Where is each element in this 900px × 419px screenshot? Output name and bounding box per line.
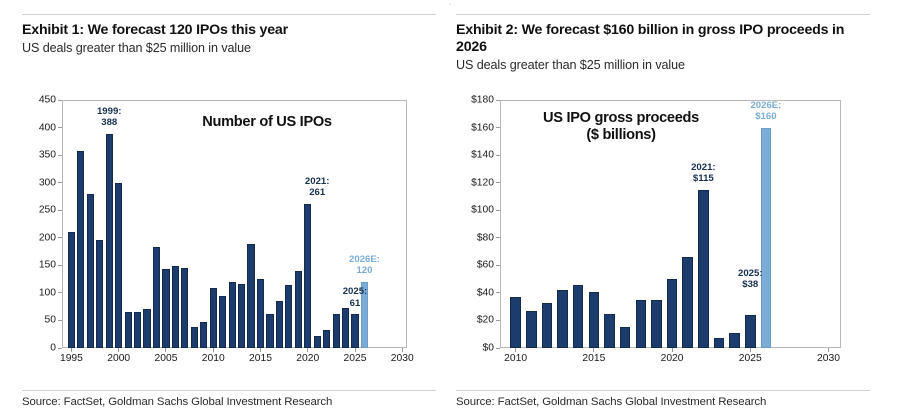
bar: [285, 285, 292, 348]
bar: [295, 271, 302, 348]
annot-2026E: 2026E:120: [341, 254, 387, 276]
x-axis-tick-label: 2000: [107, 353, 130, 364]
y-axis-tick-label: $120: [456, 177, 494, 188]
bar: [96, 240, 103, 348]
x-axis-tick-label: 2025: [739, 353, 762, 364]
y-axis-tick-label: $40: [456, 287, 494, 298]
bar: [276, 301, 283, 348]
y-axis-tick-mark: [58, 155, 62, 156]
exhibit-1-panel: Exhibit 1: We forecast 120 IPOs this yea…: [22, 0, 452, 419]
y-axis-tick-mark: [496, 348, 500, 349]
x-axis-tick-mark: [260, 348, 261, 352]
y-axis-tick-label: $140: [456, 150, 494, 161]
y-axis-tick-mark: [58, 265, 62, 266]
exhibit-2-source: Source: FactSet, Goldman Sachs Global In…: [456, 396, 870, 408]
x-axis-tick-mark: [118, 348, 119, 352]
bar: [266, 314, 273, 348]
bar: [714, 338, 725, 348]
x-axis-tick-label: 2030: [391, 353, 414, 364]
y-axis-tick-mark: [58, 100, 62, 101]
bar: [247, 244, 254, 348]
bar: [68, 232, 75, 348]
bar: [257, 279, 264, 348]
bar: [115, 183, 122, 348]
bar: [542, 303, 553, 348]
y-axis-tick-label: $100: [456, 205, 494, 216]
annot-2025-line-1: 2025:: [332, 286, 378, 297]
bar: [77, 151, 84, 348]
x-axis-tick-label: 2010: [202, 353, 225, 364]
annot-1999-line-1: 1999:: [86, 106, 132, 117]
top-divider: [456, 14, 870, 15]
bar: [106, 134, 113, 348]
bar: [153, 247, 160, 348]
annot-2021-line-2: 261: [294, 187, 340, 198]
chart-us-ipo-gross-proceeds: $0$20$40$60$80$100$120$140$160$180201020…: [456, 78, 876, 368]
bar: [229, 282, 236, 348]
y-axis-tick-mark: [58, 182, 62, 183]
y-axis-tick-label: 350: [22, 150, 56, 161]
x-axis-tick-label: 2015: [249, 353, 272, 364]
bar: [682, 257, 693, 348]
y-axis-tick-label: $20: [456, 315, 494, 326]
bottom-divider: [456, 390, 870, 391]
annot-2025-line-1: 2025:: [727, 268, 773, 279]
bar: [181, 268, 188, 348]
bar: [314, 336, 321, 348]
x-axis-tick-mark: [355, 348, 356, 352]
annot-2026E-line-2: $160: [743, 111, 789, 122]
bar: [557, 290, 568, 348]
annot-2021-line-1: 2021:: [294, 176, 340, 187]
y-axis-tick-mark: [496, 155, 500, 156]
y-axis-tick-label: 50: [22, 315, 56, 326]
y-axis-tick-label: 200: [22, 232, 56, 243]
bar: [510, 297, 521, 348]
y-axis-tick-mark: [496, 100, 500, 101]
exhibit-1-source: Source: FactSet, Goldman Sachs Global In…: [22, 396, 436, 408]
x-axis-tick-mark: [71, 348, 72, 352]
annot-2025-line-2: 61: [332, 298, 378, 309]
x-axis-tick-label: 2020: [296, 353, 319, 364]
x-axis-tick-mark: [672, 348, 673, 352]
bar: [745, 315, 756, 348]
x-axis-tick-mark: [593, 348, 594, 352]
bar: [636, 300, 647, 348]
bar: [87, 194, 94, 348]
y-axis-tick-mark: [496, 210, 500, 211]
top-divider: [22, 14, 436, 15]
bar: [342, 308, 349, 348]
x-axis-tick-mark: [402, 348, 403, 352]
bar: [219, 296, 226, 348]
bar: [143, 309, 150, 348]
bar: [667, 279, 678, 348]
bar: [172, 266, 179, 348]
bar: [210, 288, 217, 348]
exhibit-2-panel: Exhibit 2: We forecast $160 billion in g…: [456, 0, 886, 419]
y-axis-tick-label: 150: [22, 260, 56, 271]
annot-2025-line-2: $38: [727, 279, 773, 290]
y-axis-tick-mark: [58, 320, 62, 321]
y-axis-tick-mark: [496, 265, 500, 266]
y-axis-tick-mark: [496, 292, 500, 293]
y-axis-tick-mark: [496, 182, 500, 183]
chart-title-line-2: ($ billions): [506, 127, 736, 144]
y-axis-tick-mark: [58, 210, 62, 211]
x-axis-tick-label: 2020: [661, 353, 684, 364]
y-axis-tick-mark: [58, 127, 62, 128]
x-axis-tick-label: 1995: [60, 353, 83, 364]
bar: [200, 322, 207, 348]
exhibit-1-title: Exhibit 1: We forecast 120 IPOs this yea…: [22, 22, 436, 39]
bar: [620, 327, 631, 348]
exhibit-2-subtitle: US deals greater than $25 million in val…: [456, 58, 870, 73]
x-axis-tick-mark: [750, 348, 751, 352]
bar: [125, 312, 132, 348]
bar: [304, 204, 311, 348]
bar: [134, 312, 141, 348]
bar-forecast: [761, 128, 772, 348]
bar: [651, 300, 662, 348]
bar: [162, 269, 169, 348]
y-axis-tick-label: $80: [456, 232, 494, 243]
annot-2026E: 2026E:$160: [743, 100, 789, 122]
x-axis-tick-mark: [307, 348, 308, 352]
annot-2021-line-2: $115: [680, 173, 726, 184]
annot-2026E-line-2: 120: [341, 265, 387, 276]
bar: [573, 285, 584, 348]
bar: [698, 190, 709, 348]
annot-2021-line-1: 2021:: [680, 162, 726, 173]
y-axis-tick-mark: [496, 127, 500, 128]
annot-2021: 2021:261: [294, 176, 340, 198]
exhibit-page: . Exhibit 1: We forecast 120 IPOs this y…: [0, 0, 900, 419]
x-axis-tick-label: 2015: [582, 353, 605, 364]
bar: [526, 311, 537, 348]
bar: [351, 314, 358, 348]
bar: [323, 330, 330, 348]
annot-2026E-line-1: 2026E:: [743, 100, 789, 111]
chart-title: US IPO gross proceeds($ billions): [506, 110, 736, 144]
x-axis-tick-label: 2025: [344, 353, 367, 364]
x-axis-tick-label: 2010: [504, 353, 527, 364]
x-axis-tick-mark: [213, 348, 214, 352]
x-axis-tick-label: 2005: [155, 353, 178, 364]
y-axis-tick-mark: [58, 348, 62, 349]
exhibit-1-subtitle: US deals greater than $25 million in val…: [22, 41, 436, 56]
y-axis-tick-mark: [496, 320, 500, 321]
annot-2021: 2021:$115: [680, 162, 726, 184]
bar: [729, 333, 740, 348]
y-axis-tick-label: $160: [456, 122, 494, 133]
exhibit-2-title: Exhibit 2: We forecast $160 billion in g…: [456, 22, 870, 55]
x-axis-tick-mark: [828, 348, 829, 352]
y-axis-tick-mark: [58, 237, 62, 238]
y-axis-tick-mark: [496, 237, 500, 238]
annot-2026E-line-1: 2026E:: [341, 254, 387, 265]
annot-1999: 1999:388: [86, 106, 132, 128]
chart-title: Number of US IPOs: [167, 114, 367, 131]
bar: [238, 284, 245, 348]
x-axis-tick-label: 2030: [817, 353, 840, 364]
y-axis-tick-label: $180: [456, 95, 494, 106]
annot-2025: 2025:61: [332, 286, 378, 308]
y-axis-tick-label: 250: [22, 205, 56, 216]
y-axis-tick-label: $0: [456, 343, 494, 354]
x-axis-tick-mark: [515, 348, 516, 352]
y-axis-tick-label: 450: [22, 95, 56, 106]
annot-2025: 2025:$38: [727, 268, 773, 290]
bar: [604, 314, 615, 348]
bar: [589, 292, 600, 348]
chart-number-of-us-ipos: 0501001502002503003504004501995200020052…: [22, 78, 442, 368]
y-axis-tick-label: 400: [22, 122, 56, 133]
y-axis-tick-label: 100: [22, 287, 56, 298]
annot-1999-line-2: 388: [86, 117, 132, 128]
y-axis-tick-mark: [58, 292, 62, 293]
chart-title-line-1: US IPO gross proceeds: [506, 110, 736, 127]
x-axis-tick-mark: [165, 348, 166, 352]
y-axis-tick-label: $60: [456, 260, 494, 271]
y-axis-tick-label: 0: [22, 343, 56, 354]
bottom-divider: [22, 390, 436, 391]
bar: [191, 327, 198, 348]
bar: [333, 314, 340, 348]
y-axis-tick-label: 300: [22, 177, 56, 188]
